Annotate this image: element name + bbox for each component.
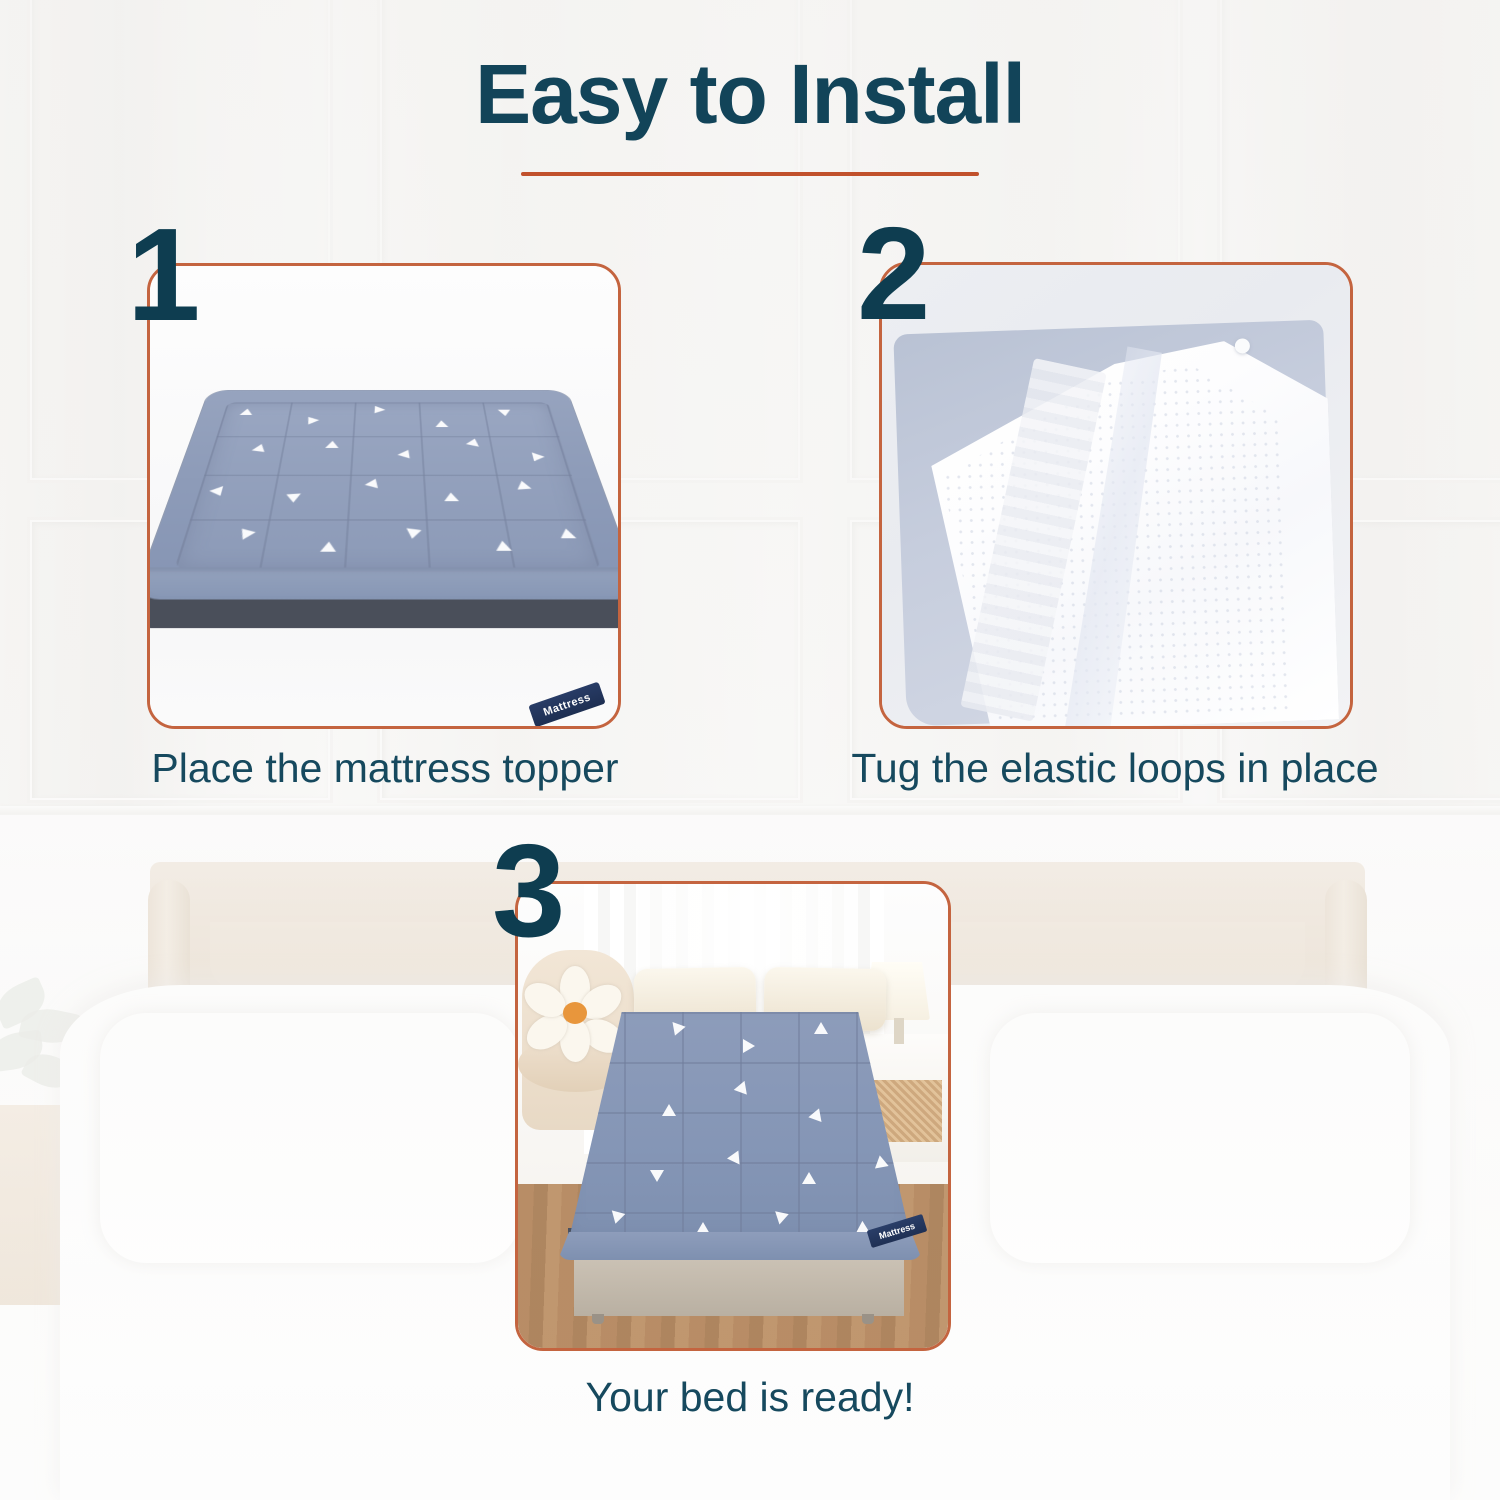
- step-number-1: 1: [127, 209, 197, 341]
- corner-detail: [1235, 338, 1251, 354]
- topper-quilt-grid: [174, 402, 602, 569]
- step-card-3: Mattress: [515, 881, 951, 1351]
- step-number-2: 2: [857, 208, 927, 340]
- bed-foot-right: [862, 1314, 874, 1324]
- table-lamp-base: [894, 1018, 904, 1044]
- step-card-2: [879, 262, 1353, 729]
- title-underline-rule: [521, 172, 979, 176]
- daisy-center: [563, 1002, 587, 1024]
- step-card-1: Mattress: [147, 263, 621, 729]
- installed-mattress-topper: [566, 1012, 914, 1252]
- step-caption-1: Place the mattress topper: [0, 745, 770, 792]
- bed-foot-left: [592, 1314, 604, 1324]
- page-title: Easy to Install: [0, 52, 1500, 138]
- mattress-topper-illustration: [147, 391, 621, 598]
- step-number-3: 3: [492, 825, 562, 957]
- topper-body: [147, 391, 621, 598]
- daisy-cushion: [528, 966, 622, 1060]
- topper-edge-welt: [147, 567, 621, 599]
- mattress-corner: [893, 320, 1336, 727]
- step-caption-3: Your bed is ready!: [250, 1374, 1250, 1421]
- step-caption-2: Tug the elastic loops in place: [730, 745, 1500, 792]
